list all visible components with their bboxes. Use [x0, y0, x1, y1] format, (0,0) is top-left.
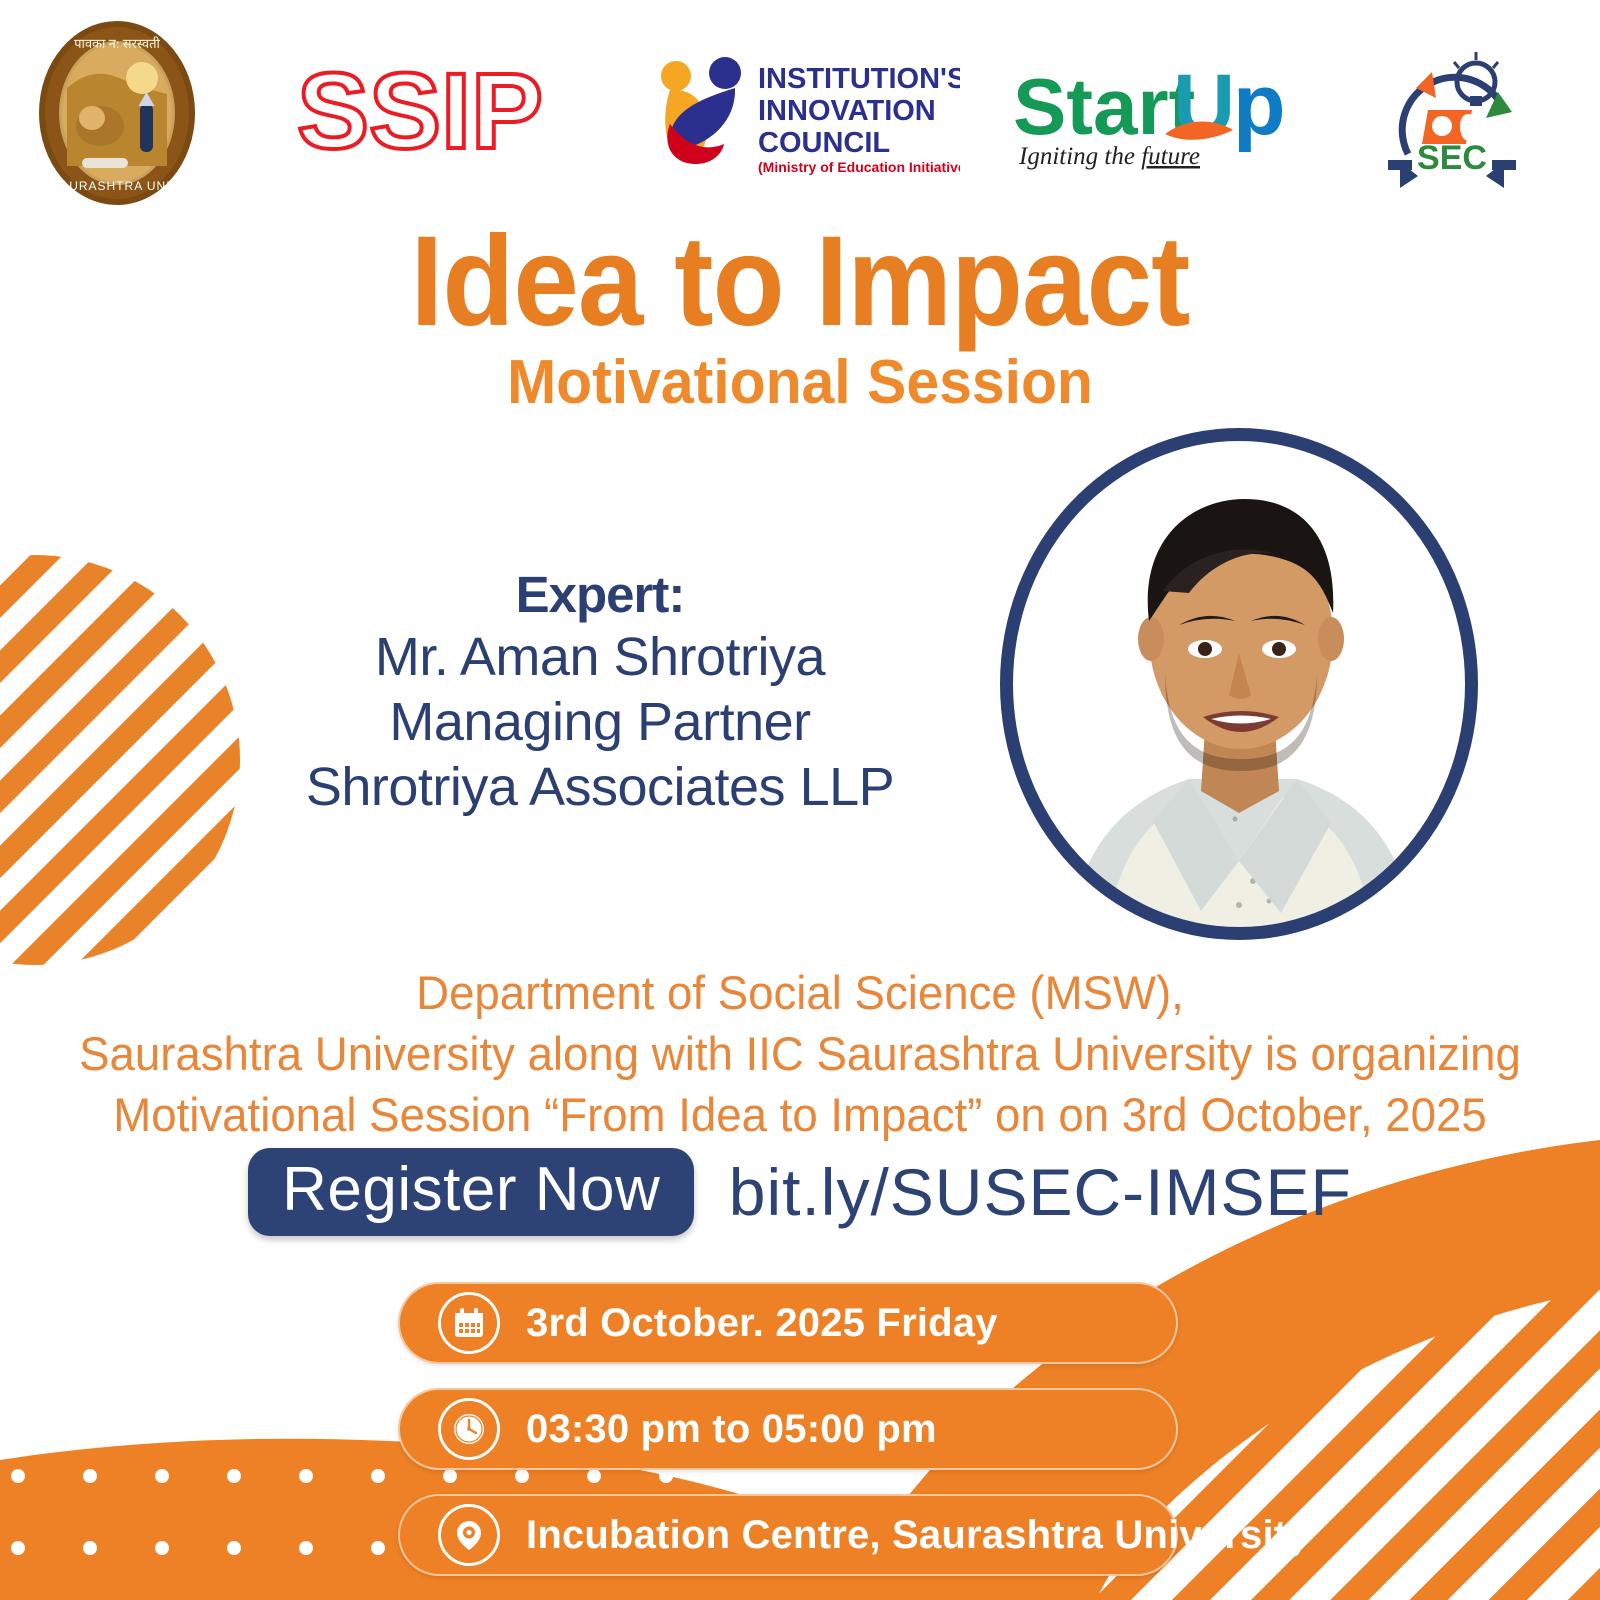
- svg-text:Igniting the future: Igniting the future: [1018, 143, 1200, 170]
- register-now-button[interactable]: Register Now: [248, 1148, 694, 1236]
- detail-text-date: 3rd October. 2025 Friday: [526, 1303, 998, 1343]
- expert-block: Expert: Mr. Aman Shrotriya Managing Part…: [250, 565, 950, 820]
- event-poster: पावका न: सरस्वती SAURASHTRA UNIV. SSIP S…: [0, 0, 1600, 1600]
- detail-pill-date: 3rd October. 2025 Friday: [398, 1282, 1178, 1364]
- svg-text:SAURASHTRA UNIV.: SAURASHTRA UNIV.: [51, 179, 183, 193]
- calendar-icon: [438, 1292, 500, 1354]
- svg-text:INSTITUTION'S: INSTITUTION'S: [758, 63, 960, 95]
- detail-text-venue: Incubation Centre, Saurashtra University: [526, 1515, 1310, 1555]
- event-description: Department of Social Science (MSW), Saur…: [24, 962, 1576, 1145]
- registration-row: Register Now bit.ly/SUSEC-IMSEF: [0, 1148, 1600, 1236]
- saurashtra-university-logo: पावका न: सरस्वती SAURASHTRA UNIV.: [22, 18, 212, 208]
- svg-text:INNOVATION: INNOVATION: [758, 95, 936, 127]
- description-line-3: Motivational Session “From Idea to Impac…: [24, 1084, 1576, 1145]
- expert-name: Mr. Aman Shrotriya: [250, 625, 950, 690]
- description-line-1: Department of Social Science (MSW),: [24, 962, 1576, 1023]
- speaker-photo-ring: [1000, 428, 1478, 940]
- svg-text:COUNCIL: COUNCIL: [758, 127, 890, 159]
- susec-logo: SEC: [1370, 36, 1530, 201]
- description-line-2: Saurashtra University along with IIC Sau…: [24, 1023, 1576, 1084]
- detail-pill-venue: Incubation Centre, Saurashtra University: [398, 1494, 1178, 1576]
- logo-bar: पावका न: सरस्वती SAURASHTRA UNIV. SSIP S…: [0, 18, 1600, 208]
- left-striped-circle-decoration: [0, 540, 260, 990]
- svg-text:Start: Start: [1013, 62, 1195, 151]
- svg-text:(Ministry of Education Initiat: (Ministry of Education Initiative): [758, 159, 960, 175]
- svg-text:SEC: SEC: [1417, 139, 1487, 177]
- detail-pill-time: 03:30 pm to 05:00 pm: [398, 1388, 1178, 1470]
- poster-title: Idea to Impact: [64, 218, 1536, 346]
- registration-link[interactable]: bit.ly/SUSEC-IMSEF: [729, 1159, 1352, 1225]
- svg-text:पावका न: सरस्वती: पावका न: सरस्वती: [74, 36, 160, 51]
- expert-designation: Managing Partner: [250, 690, 950, 755]
- ssip-logo: SSIP SSIP SSIP: [270, 50, 570, 170]
- event-details-list: 3rd October. 2025 Friday 03:30 pm to 05:…: [398, 1282, 1178, 1600]
- expert-organization: Shrotriya Associates LLP: [250, 755, 950, 820]
- svg-text:p: p: [1233, 57, 1286, 153]
- detail-text-time: 03:30 pm to 05:00 pm: [526, 1409, 937, 1449]
- poster-subtitle: Motivational Session: [40, 352, 1560, 414]
- startup-logo: Start U p Igniting the future: [1005, 56, 1305, 176]
- expert-label: Expert:: [250, 565, 950, 625]
- clock-icon: [438, 1398, 500, 1460]
- speaker-photo: [1000, 428, 1478, 940]
- iic-logo: INSTITUTION'S INNOVATION COUNCIL (Minist…: [640, 48, 960, 178]
- location-pin-icon: [438, 1504, 500, 1566]
